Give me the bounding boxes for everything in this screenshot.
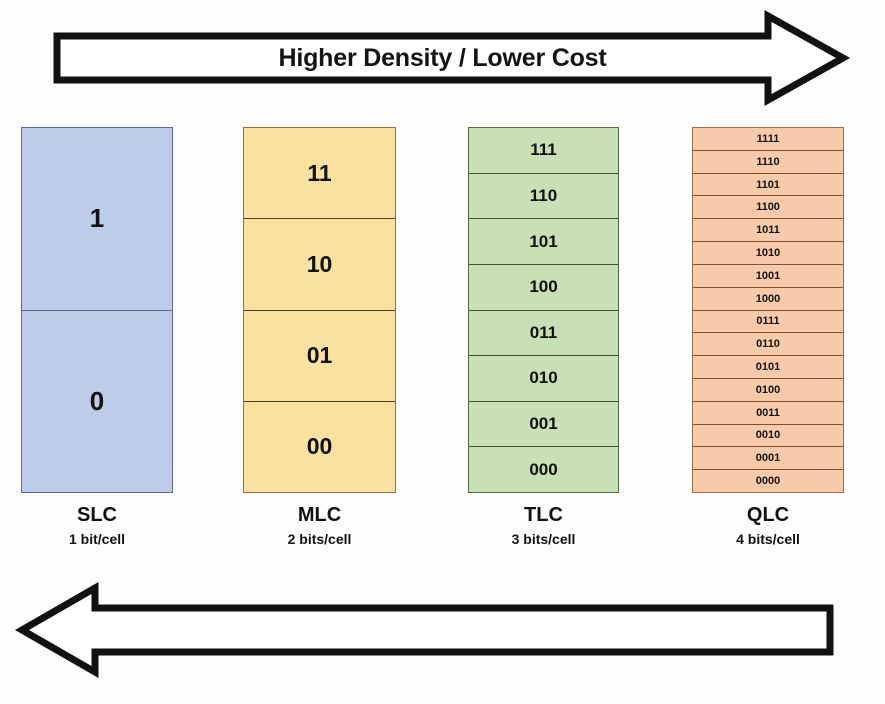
cell-state: 1 bbox=[22, 128, 172, 311]
cell-state: 1010 bbox=[693, 242, 843, 265]
cell-state: 1011 bbox=[693, 219, 843, 242]
cell-state: 1100 bbox=[693, 196, 843, 219]
column-bits-qlc: 4 bits/cell bbox=[692, 528, 844, 550]
caption-tlc: TLC 3 bits/cell bbox=[468, 503, 619, 550]
cell-state: 00 bbox=[244, 402, 395, 492]
column-bits-tlc: 3 bits/cell bbox=[468, 528, 619, 550]
cell-state: 101 bbox=[469, 219, 618, 265]
cell-state: 110 bbox=[469, 174, 618, 220]
cell-state: 000 bbox=[469, 447, 618, 492]
column-mlc: 11 10 01 00 bbox=[243, 127, 396, 493]
cell-state: 0010 bbox=[693, 425, 843, 448]
column-title-qlc: QLC bbox=[692, 503, 844, 528]
column-slc: 1 0 bbox=[21, 127, 173, 493]
cell-state: 0 bbox=[22, 311, 172, 493]
column-bits-slc: 1 bit/cell bbox=[21, 528, 173, 550]
cell-state: 0011 bbox=[693, 402, 843, 425]
cell-state: 001 bbox=[469, 402, 618, 448]
cell-state: 0101 bbox=[693, 356, 843, 379]
cell-type-columns: 1 0 11 10 01 00 111 110 101 100 011 010 … bbox=[0, 127, 885, 493]
caption-mlc: MLC 2 bits/cell bbox=[243, 503, 396, 550]
column-title-mlc: MLC bbox=[243, 503, 396, 528]
column-title-slc: SLC bbox=[21, 503, 173, 528]
cell-state: 01 bbox=[244, 311, 395, 402]
cell-state: 111 bbox=[469, 128, 618, 174]
cell-state: 100 bbox=[469, 265, 618, 311]
top-arrow-label: Higher Density / Lower Cost bbox=[0, 44, 885, 73]
cell-state: 0110 bbox=[693, 333, 843, 356]
top-arrow-group: Higher Density / Lower Cost bbox=[0, 0, 885, 118]
cell-state: 0100 bbox=[693, 379, 843, 402]
arrow-left-icon bbox=[0, 578, 885, 704]
column-tlc: 111 110 101 100 011 010 001 000 bbox=[468, 127, 619, 493]
caption-slc: SLC 1 bit/cell bbox=[21, 503, 173, 550]
caption-qlc: QLC 4 bits/cell bbox=[692, 503, 844, 550]
cell-state: 1101 bbox=[693, 174, 843, 197]
column-title-tlc: TLC bbox=[468, 503, 619, 528]
cell-state: 0111 bbox=[693, 311, 843, 334]
cell-state: 1110 bbox=[693, 151, 843, 174]
bottom-arrow-group: Higher Performance / Durability bbox=[0, 578, 885, 704]
nand-cell-type-diagram: Higher Density / Lower Cost 1 0 11 10 01… bbox=[0, 0, 885, 704]
cell-state: 010 bbox=[469, 356, 618, 402]
cell-state: 10 bbox=[244, 219, 395, 310]
column-bits-mlc: 2 bits/cell bbox=[243, 528, 396, 550]
cell-state: 11 bbox=[244, 128, 395, 219]
cell-state: 0001 bbox=[693, 447, 843, 470]
cell-state: 0000 bbox=[693, 470, 843, 492]
cell-state: 1001 bbox=[693, 265, 843, 288]
cell-state: 011 bbox=[469, 311, 618, 357]
column-qlc: 1111 1110 1101 1100 1011 1010 1001 1000 … bbox=[692, 127, 844, 493]
cell-state: 1111 bbox=[693, 128, 843, 151]
cell-state: 1000 bbox=[693, 288, 843, 311]
